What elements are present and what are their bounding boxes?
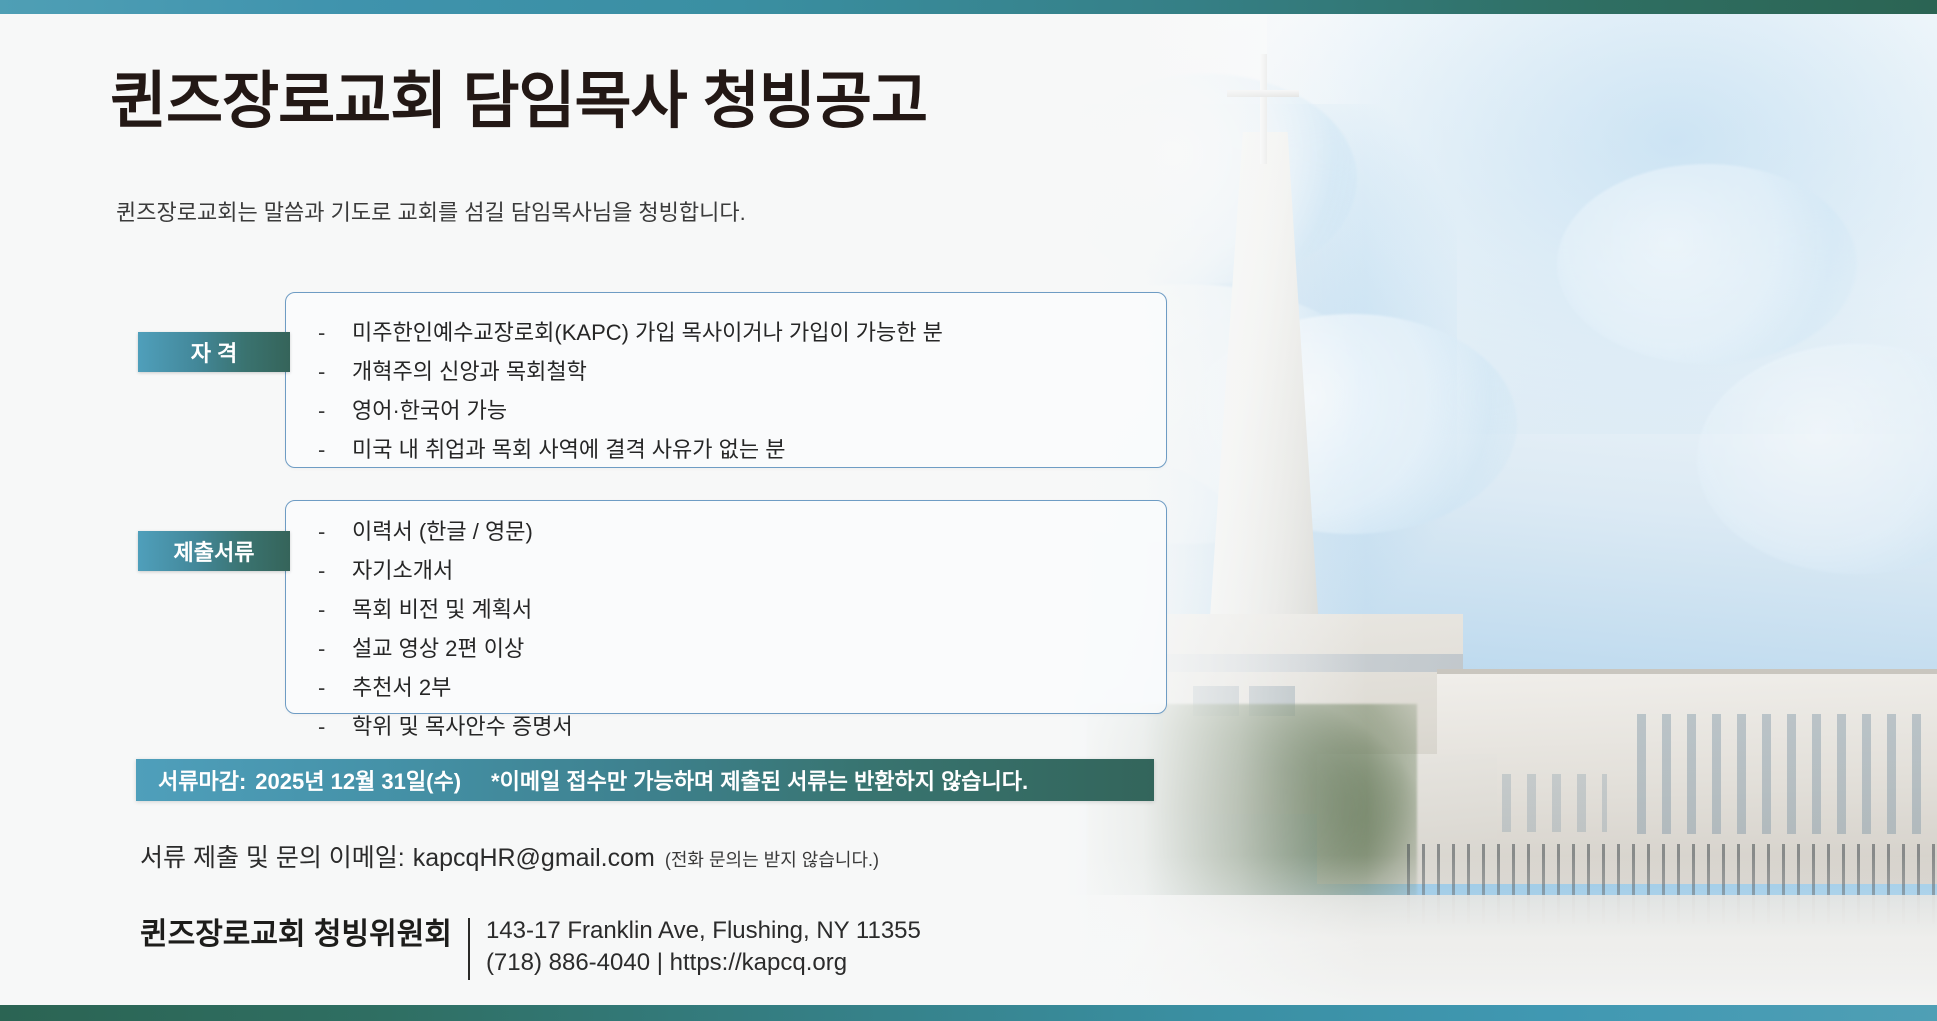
top-accent-bar [0, 0, 1937, 14]
list-item-label: 개혁주의 신앙과 목회철학 [352, 361, 587, 383]
bullet-dash: - [318, 322, 352, 344]
documents-list: -이력서 (한글 / 영문) -자기소개서 -목회 비전 및 계획서 -설교 영… [318, 521, 573, 755]
building-window-strip [1637, 714, 1927, 834]
cloud-icon [1557, 164, 1857, 364]
qualifications-tag: 자 격 [138, 332, 290, 372]
list-item-label: 미국 내 취업과 목회 사역에 결격 사유가 없는 분 [352, 439, 785, 461]
list-item: -미주한인예수교장로회(KAPC) 가입 목사이거나 가입이 가능한 분 [318, 322, 943, 344]
page-title: 퀸즈장로교회 담임목사 청빙공고 [110, 68, 927, 136]
list-item-label: 자기소개서 [352, 560, 453, 582]
email-note: (전화 문의는 받지 않습니다.) [665, 846, 879, 872]
contact-email-line: 서류 제출 및 문의 이메일: kapcqHR@gmail.com (전화 문의… [140, 838, 879, 874]
page-subtitle: 퀸즈장로교회는 말씀과 기도로 교회를 섬길 담임목사님을 청빙합니다. [116, 195, 746, 227]
bullet-dash: - [318, 439, 352, 461]
email-label: 서류 제출 및 문의 이메일: [140, 838, 405, 874]
deadline-label: 서류마감: [136, 764, 246, 796]
list-item-label: 추천서 2부 [352, 677, 451, 699]
content-column: 퀸즈장로교회 담임목사 청빙공고 퀸즈장로교회는 말씀과 기도로 교회를 섬길 … [0, 0, 1200, 1021]
bullet-dash: - [318, 560, 352, 582]
documents-tag: 제출서류 [138, 531, 290, 571]
bullet-dash: - [318, 638, 352, 660]
list-item: -영어·한국어 가능 [318, 400, 943, 422]
footer: 퀸즈장로교회 청빙위원회 143-17 Franklin Ave, Flushi… [140, 915, 921, 980]
email-address[interactable]: kapcqHR@gmail.com [413, 844, 655, 873]
poster-canvas: 퀸즈장로교회 담임목사 청빙공고 퀸즈장로교회는 말씀과 기도로 교회를 섬길 … [0, 0, 1937, 1021]
qualifications-list: -미주한인예수교장로회(KAPC) 가입 목사이거나 가입이 가능한 분 -개혁… [318, 322, 943, 478]
list-item: -목회 비전 및 계획서 [318, 599, 573, 621]
bullet-dash: - [318, 599, 352, 621]
footer-phone-website[interactable]: (718) 886-4040 | https://kapcq.org [486, 947, 921, 979]
bullet-dash: - [318, 716, 352, 738]
bottom-accent-bar [0, 1005, 1937, 1021]
list-item: -설교 영상 2편 이상 [318, 638, 573, 660]
bullet-dash: - [318, 361, 352, 383]
list-item: -자기소개서 [318, 560, 573, 582]
list-item-label: 영어·한국어 가능 [352, 400, 507, 422]
list-item-label: 설교 영상 2편 이상 [352, 638, 524, 660]
list-item-label: 학위 및 목사안수 증명서 [352, 716, 573, 738]
footer-address: 143-17 Franklin Ave, Flushing, NY 11355 [486, 915, 921, 947]
list-item-label: 미주한인예수교장로회(KAPC) 가입 목사이거나 가입이 가능한 분 [352, 322, 943, 344]
list-item: -추천서 2부 [318, 677, 573, 699]
bullet-dash: - [318, 677, 352, 699]
list-item: -이력서 (한글 / 영문) [318, 521, 573, 543]
footer-contact: 143-17 Franklin Ave, Flushing, NY 11355 … [470, 915, 921, 980]
list-item: -학위 및 목사안수 증명서 [318, 716, 573, 738]
list-item: -미국 내 취업과 목회 사역에 결격 사유가 없는 분 [318, 439, 943, 461]
footer-organization: 퀸즈장로교회 청빙위원회 [140, 915, 468, 956]
deadline-date: 2025년 12월 31일(수) [246, 764, 461, 796]
list-item-label: 이력서 (한글 / 영문) [352, 521, 533, 543]
deadline-note: *이메일 접수만 가능하며 제출된 서류는 반환하지 않습니다. [461, 764, 1028, 796]
list-item: -개혁주의 신앙과 목회철학 [318, 361, 943, 383]
bullet-dash: - [318, 400, 352, 422]
bullet-dash: - [318, 521, 352, 543]
list-item-label: 목회 비전 및 계획서 [352, 599, 532, 621]
deadline-banner: 서류마감: 2025년 12월 31일(수) *이메일 접수만 가능하며 제출된… [136, 759, 1154, 801]
